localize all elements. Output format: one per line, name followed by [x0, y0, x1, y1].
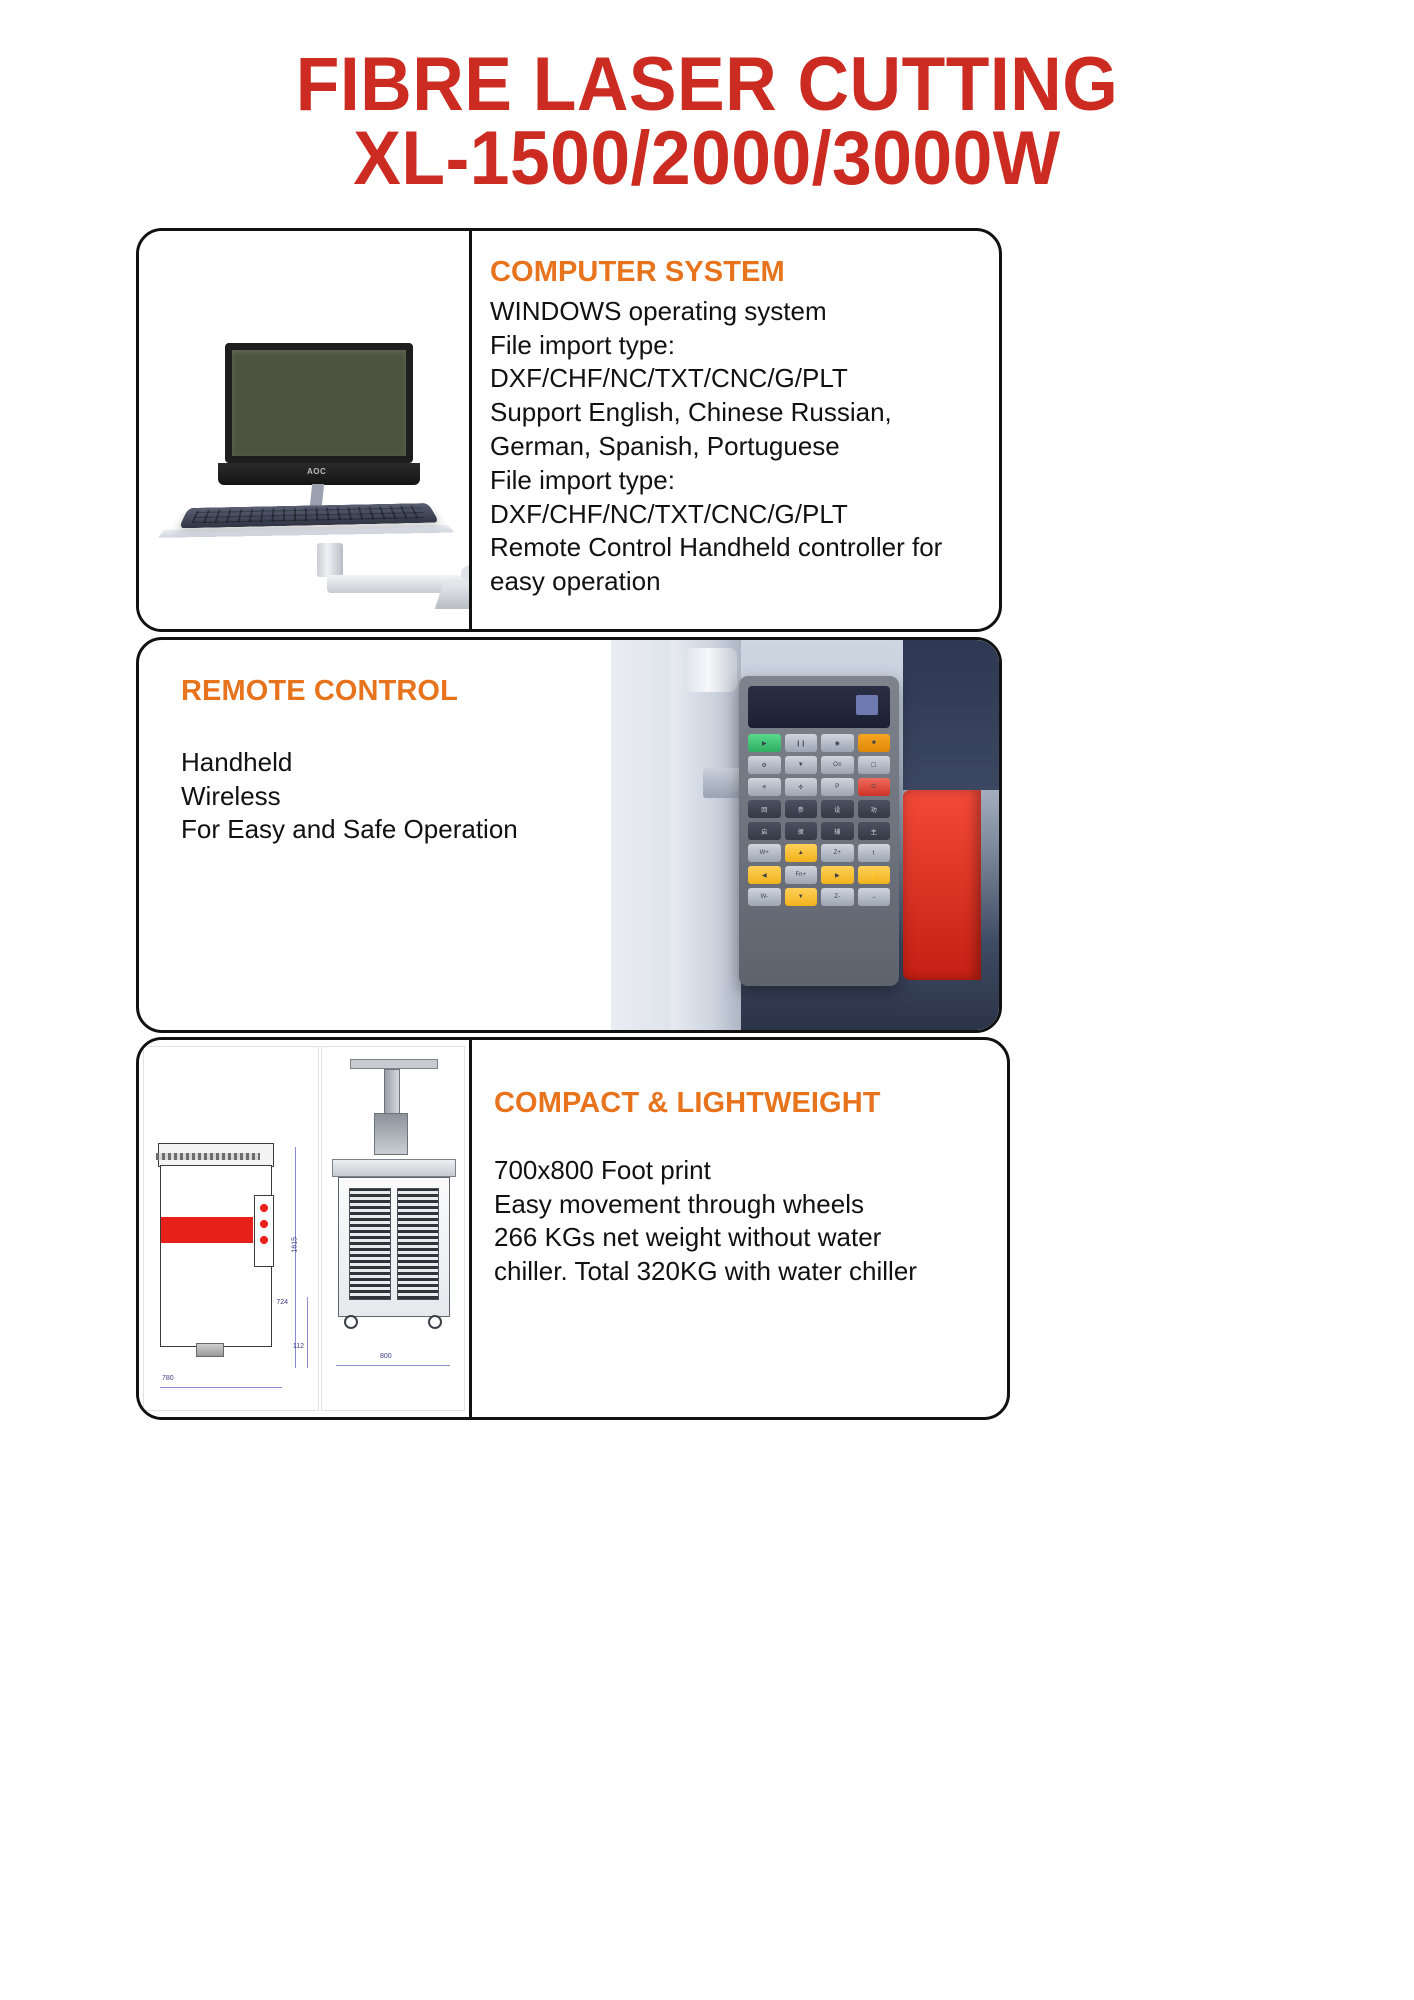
feature-line: Wireless: [181, 780, 593, 814]
page-title: FIBRE LASER CUTTING XL-1500/2000/3000W: [0, 48, 1414, 195]
front-view-drawing: 800: [321, 1046, 465, 1411]
key[interactable]: 主: [858, 822, 891, 840]
title-line-2: XL-1500/2000/3000W: [42, 122, 1371, 196]
key[interactable]: ▶: [748, 734, 781, 752]
spec-line: Remote Control Handheld controller for: [490, 531, 981, 565]
key[interactable]: 辅: [821, 822, 854, 840]
side-view-drawing: 1615 724 112 780: [143, 1046, 319, 1411]
remote-control-body: Handheld Wireless For Easy and Safe Oper…: [181, 746, 593, 847]
key[interactable]: ▶: [821, 866, 854, 884]
key[interactable]: ✣: [785, 778, 818, 796]
dimension-low-label: 112: [293, 1343, 304, 1350]
remote-control-heading: REMOTE CONTROL: [181, 676, 593, 708]
lower-dimension-line: [307, 1297, 308, 1368]
key[interactable]: ⚡: [858, 866, 891, 884]
key[interactable]: →: [858, 888, 891, 906]
dimension-height-label: 1615: [292, 1237, 299, 1253]
key[interactable]: ⏻: [858, 778, 891, 796]
pneumatic-cylinder: [685, 648, 737, 692]
linear-rail: [156, 1153, 260, 1160]
spec-line: File import type:: [490, 329, 981, 363]
handheld-wireless-controller-photo: ▶ ❙❙ ◉ ■ ⚙ ▼ O≡ ☐ ✳ ✣ P ⏻ 回 参: [611, 640, 999, 1030]
keyboard-icon: [179, 503, 440, 528]
spec-line: DXF/CHF/NC/TXT/CNC/G/PLT: [490, 498, 981, 532]
key[interactable]: W+: [748, 844, 781, 862]
compact-lightweight-heading: COMPACT & LIGHTWEIGHT: [494, 1088, 989, 1120]
machine-upper-right-panel: [903, 640, 999, 790]
panel-compact-lightweight: 1615 724 112 780: [136, 1037, 1010, 1420]
panel-computer-system: AOC COMPUTER SYSTEM: [136, 228, 1002, 632]
key[interactable]: O≡: [821, 756, 854, 774]
key[interactable]: P: [821, 778, 854, 796]
width-dimension-line: [160, 1387, 282, 1388]
brochure-page: FIBRE LASER CUTTING XL-1500/2000/3000W A…: [0, 0, 1414, 2000]
key[interactable]: Z-: [821, 888, 854, 906]
key[interactable]: 回: [748, 800, 781, 818]
key[interactable]: ▼: [785, 756, 818, 774]
z-axis-mast: [384, 1069, 400, 1119]
key[interactable]: 保: [785, 822, 818, 840]
height-dimension-line: [295, 1147, 296, 1368]
spec-line: German, Spanish, Portuguese: [490, 430, 981, 464]
ventilation-grille: [349, 1188, 391, 1300]
monitor-brand-label: AOC: [307, 467, 326, 476]
spec-line: File import type:: [490, 464, 981, 498]
leveling-foot: [196, 1343, 224, 1357]
caster-wheel: [428, 1315, 442, 1329]
spec-line: Easy movement through wheels: [494, 1188, 989, 1222]
spec-line: WINDOWS operating system: [490, 295, 981, 329]
key[interactable]: ■: [858, 734, 891, 752]
handheld-controller: ▶ ❙❙ ◉ ■ ⚙ ▼ O≡ ☐ ✳ ✣ P ⏻ 回 参: [739, 676, 899, 986]
key[interactable]: ▲: [785, 844, 818, 862]
spec-line: 266 KGs net weight without water: [494, 1221, 989, 1255]
computer-system-body: WINDOWS operating system File import typ…: [490, 295, 981, 599]
key[interactable]: ◀: [748, 866, 781, 884]
width-dimension-line: [336, 1365, 450, 1366]
laser-head: [374, 1113, 408, 1155]
spec-line: Support English, Chinese Russian,: [490, 396, 981, 430]
dimension-width-right-label: 800: [380, 1353, 392, 1360]
machine-column: [671, 640, 741, 1030]
controller-keypad[interactable]: ▶ ❙❙ ◉ ■ ⚙ ▼ O≡ ☐ ✳ ✣ P ⏻ 回 参: [748, 734, 890, 906]
compact-lightweight-body: 700x800 Foot print Easy movement through…: [494, 1154, 989, 1289]
feature-line: For Easy and Safe Operation: [181, 813, 593, 847]
dimension-mid-label: 724: [276, 1299, 288, 1306]
key[interactable]: ◉: [821, 734, 854, 752]
panel-remote-control: REMOTE CONTROL Handheld Wireless For Eas…: [136, 637, 1002, 1033]
emergency-stop-panel: [903, 790, 981, 980]
key[interactable]: 参: [785, 800, 818, 818]
control-box: [254, 1195, 274, 1267]
key[interactable]: 功: [858, 800, 891, 818]
computer-monitor-keyboard-photo: AOC: [139, 231, 469, 629]
key[interactable]: ❙❙: [785, 734, 818, 752]
key[interactable]: ⚙: [748, 756, 781, 774]
work-table: [332, 1159, 456, 1177]
ventilation-grille: [397, 1188, 439, 1300]
support-arm-post: [317, 543, 343, 577]
dimension-width-left-label: 780: [162, 1375, 174, 1382]
monitor-screen-icon: [225, 343, 413, 463]
key[interactable]: ✳: [748, 778, 781, 796]
machine-dimension-drawings: 1615 724 112 780: [139, 1040, 469, 1417]
computer-system-heading: COMPUTER SYSTEM: [490, 257, 981, 289]
computer-system-text: COMPUTER SYSTEM WINDOWS operating system…: [472, 231, 999, 629]
key[interactable]: ▼: [785, 888, 818, 906]
key[interactable]: Fn+: [785, 866, 818, 884]
title-line-1: FIBRE LASER CUTTING: [42, 48, 1371, 122]
key[interactable]: ↿: [858, 844, 891, 862]
spec-line: easy operation: [490, 565, 981, 599]
monitor-neck: [310, 484, 324, 506]
key[interactable]: ☐: [858, 756, 891, 774]
spec-line: chiller. Total 320KG with water chiller: [494, 1255, 989, 1289]
machine-cabinet: [338, 1177, 450, 1317]
key[interactable]: 启: [748, 822, 781, 840]
spec-line: DXF/CHF/NC/TXT/CNC/G/PLT: [490, 362, 981, 396]
key[interactable]: Z+: [821, 844, 854, 862]
machine-panel-left: [611, 640, 673, 1030]
spec-line: 700x800 Foot print: [494, 1154, 989, 1188]
caster-wheel: [344, 1315, 358, 1329]
compact-lightweight-text: COMPACT & LIGHTWEIGHT 700x800 Foot print…: [472, 1040, 1007, 1417]
controller-display: [748, 686, 890, 728]
feature-line: Handheld: [181, 746, 593, 780]
gantry-beam: [350, 1059, 438, 1069]
key[interactable]: 设: [821, 800, 854, 818]
remote-control-text: REMOTE CONTROL Handheld Wireless For Eas…: [139, 640, 611, 1030]
red-accent-band: [161, 1217, 253, 1243]
key[interactable]: W-: [748, 888, 781, 906]
